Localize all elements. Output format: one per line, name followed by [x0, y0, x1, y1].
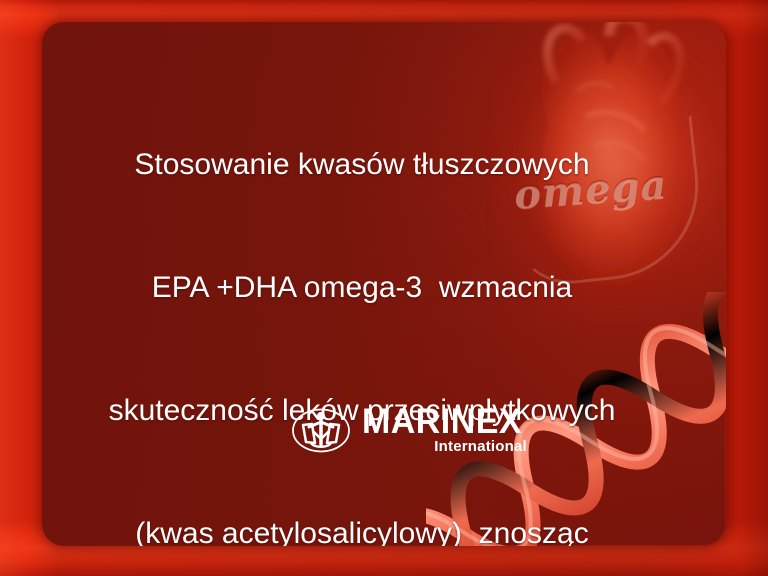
presentation-slide: omega [0, 0, 768, 576]
slide-body-text: Stosowanie kwasów tłuszczowych EPA +DHA … [42, 62, 682, 546]
body-line: EPA +DHA omega-3 wzmacnia [42, 267, 682, 308]
body-line: Stosowanie kwasów tłuszczowych [42, 144, 682, 185]
marinex-wordmark: MARINEX International [362, 405, 527, 455]
marinex-oval-emblem-icon [291, 407, 351, 454]
body-line: (kwas acetylosalicylowy) znosząc [42, 513, 682, 546]
slide-content-panel: omega [42, 22, 726, 546]
marinex-name: MARINEX [362, 405, 522, 438]
marinex-logo: MARINEX International [291, 405, 527, 455]
